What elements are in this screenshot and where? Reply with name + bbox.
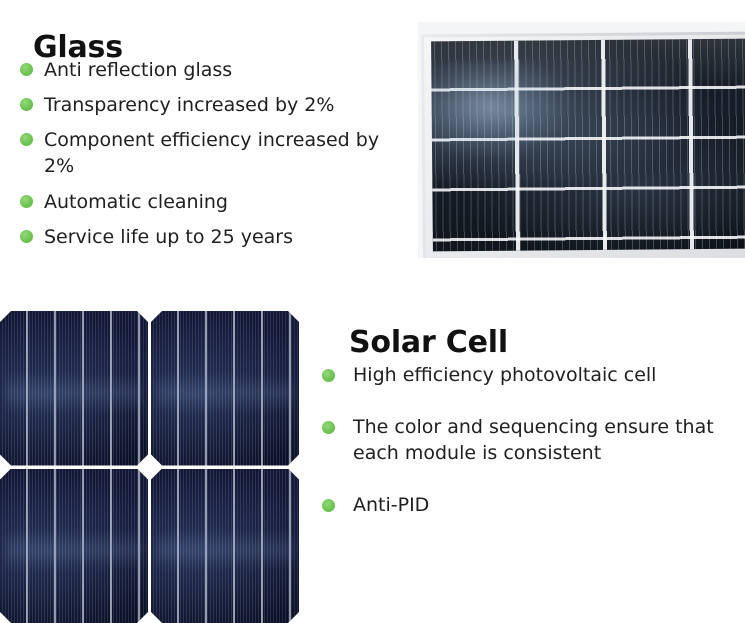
list-item: Anti-PID bbox=[322, 492, 737, 518]
module-laminate bbox=[431, 39, 745, 252]
list-item: Component efficiency increased by 2% bbox=[20, 127, 412, 179]
bullet-dot-icon bbox=[322, 421, 335, 434]
list-item: Automatic cleaning bbox=[20, 189, 412, 215]
mono-cell bbox=[151, 469, 299, 623]
bullet-dot-icon bbox=[20, 98, 33, 111]
module-bottom-mask bbox=[418, 258, 745, 274]
mono-cell bbox=[151, 311, 299, 466]
list-item: High efficiency photovoltaic cell bbox=[322, 362, 737, 388]
bullet-dot-icon bbox=[20, 133, 33, 146]
mono-cell bbox=[0, 469, 148, 623]
cell-sheen bbox=[157, 373, 293, 413]
feature-text: Anti-PID bbox=[353, 492, 737, 518]
feature-text: Anti reflection glass bbox=[44, 57, 412, 83]
solar-module-photo bbox=[418, 22, 745, 274]
feature-text: Component efficiency increased by 2% bbox=[44, 127, 412, 179]
bullet-dot-icon bbox=[20, 230, 33, 243]
bullet-dot-icon bbox=[20, 63, 33, 76]
mono-cell bbox=[0, 311, 148, 466]
list-item: Service life up to 25 years bbox=[20, 224, 412, 250]
list-item: Transparency increased by 2% bbox=[20, 92, 412, 118]
module-photo-canvas bbox=[418, 22, 745, 274]
cell-sheen bbox=[6, 530, 142, 570]
solar-cell-closeup-photo bbox=[0, 311, 299, 623]
cell-sheen bbox=[6, 373, 142, 413]
solar-cell-section-heading: Solar Cell bbox=[349, 326, 508, 360]
solar-cell-feature-list: High efficiency photovoltaic cell The co… bbox=[322, 362, 737, 544]
feature-text: Service life up to 25 years bbox=[44, 224, 412, 250]
list-item: The color and sequencing ensure that eac… bbox=[322, 414, 737, 466]
cell-sheen bbox=[157, 530, 293, 570]
module-glare-reflection bbox=[431, 61, 574, 159]
bullet-dot-icon bbox=[322, 499, 335, 512]
feature-text: High efficiency photovoltaic cell bbox=[353, 362, 737, 388]
feature-text: The color and sequencing ensure that eac… bbox=[353, 414, 737, 466]
bullet-dot-icon bbox=[20, 195, 33, 208]
list-item: Anti reflection glass bbox=[20, 57, 412, 83]
feature-sheet-page: Glass Anti reflection glass Transparency… bbox=[0, 0, 745, 623]
feature-text: Automatic cleaning bbox=[44, 189, 412, 215]
feature-text: Transparency increased by 2% bbox=[44, 92, 412, 118]
glass-feature-list: Anti reflection glass Transparency incre… bbox=[20, 57, 412, 259]
bullet-dot-icon bbox=[322, 369, 335, 382]
